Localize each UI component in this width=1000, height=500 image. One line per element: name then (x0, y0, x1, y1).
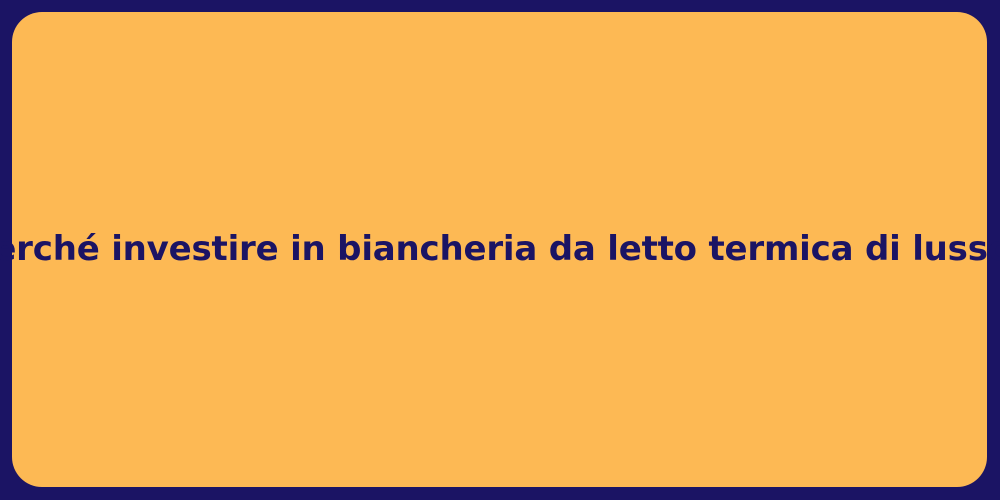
banner-panel: Perché investire in biancheria da letto … (12, 12, 987, 487)
banner-frame: Perché investire in biancheria da letto … (0, 0, 1000, 500)
banner-heading: Perché investire in biancheria da letto … (0, 228, 1000, 271)
